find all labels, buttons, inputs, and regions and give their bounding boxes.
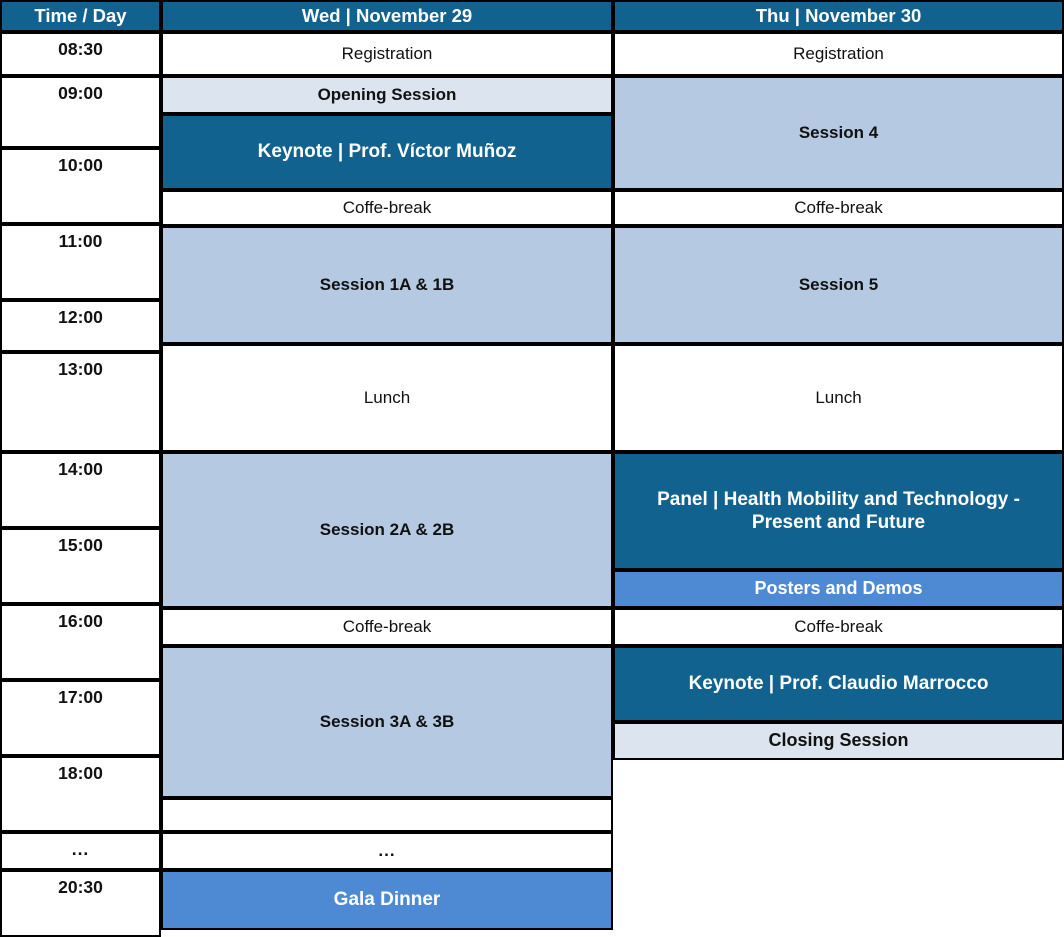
time-label-2030: 20:30	[0, 870, 161, 937]
wed-event-coffee-break-morning: Coffe-break	[161, 190, 613, 226]
time-label-1600: 16:00	[0, 604, 161, 680]
wed-event-keynote-victor-munoz: Keynote | Prof. Víctor Muñoz	[161, 114, 613, 190]
time-label-1300: 13:00	[0, 352, 161, 452]
time-label-0900: 09:00	[0, 76, 161, 148]
thu-event-lunch: Lunch	[613, 344, 1064, 452]
thu-event-posters-and-demos: Posters and Demos	[613, 570, 1064, 608]
time-label-1200: 12:00	[0, 300, 161, 352]
wed-event-registration: Registration	[161, 32, 613, 76]
thu-event-session-4: Session 4	[613, 76, 1064, 190]
time-label-1800: 18:00	[0, 756, 161, 832]
wed-event-session-3a-3b: Session 3A & 3B	[161, 646, 613, 798]
time-label-1500: 15:00	[0, 528, 161, 604]
column-header-time: Time / Day	[0, 0, 161, 32]
thu-event-coffee-break-morning: Coffe-break	[613, 190, 1064, 226]
thu-event-closing-session: Closing Session	[613, 722, 1064, 760]
time-label-ellipsis: ...	[0, 832, 161, 870]
wed-event-coffee-break-afternoon: Coffe-break	[161, 608, 613, 646]
time-label-1700: 17:00	[0, 680, 161, 756]
thu-event-keynote-claudio-marrocco: Keynote | Prof. Claudio Marrocco	[613, 646, 1064, 722]
wed-event-lunch: Lunch	[161, 344, 613, 452]
wed-event-empty	[161, 798, 613, 832]
time-label-0830: 08:30	[0, 32, 161, 76]
thu-event-panel-health-mobility: Panel | Health Mobility and Technology -…	[613, 452, 1064, 570]
wed-event-gala-dinner: Gala Dinner	[161, 870, 613, 930]
column-header-thursday: Thu | November 30	[613, 0, 1064, 32]
column-header-wednesday: Wed | November 29	[161, 0, 613, 32]
conference-schedule-table: Time / Day Wed | November 29 Thu | Novem…	[0, 0, 1064, 937]
time-label-1000: 10:00	[0, 148, 161, 224]
wed-event-session-1a-1b: Session 1A & 1B	[161, 226, 613, 344]
wed-event-session-2a-2b: Session 2A & 2B	[161, 452, 613, 608]
wed-event-ellipsis: ...	[161, 832, 613, 870]
time-label-1400: 14:00	[0, 452, 161, 528]
wed-event-opening-session: Opening Session	[161, 76, 613, 114]
thu-event-coffee-break-afternoon: Coffe-break	[613, 608, 1064, 646]
thu-event-registration: Registration	[613, 32, 1064, 76]
thu-event-session-5: Session 5	[613, 226, 1064, 344]
time-label-1100: 11:00	[0, 224, 161, 300]
